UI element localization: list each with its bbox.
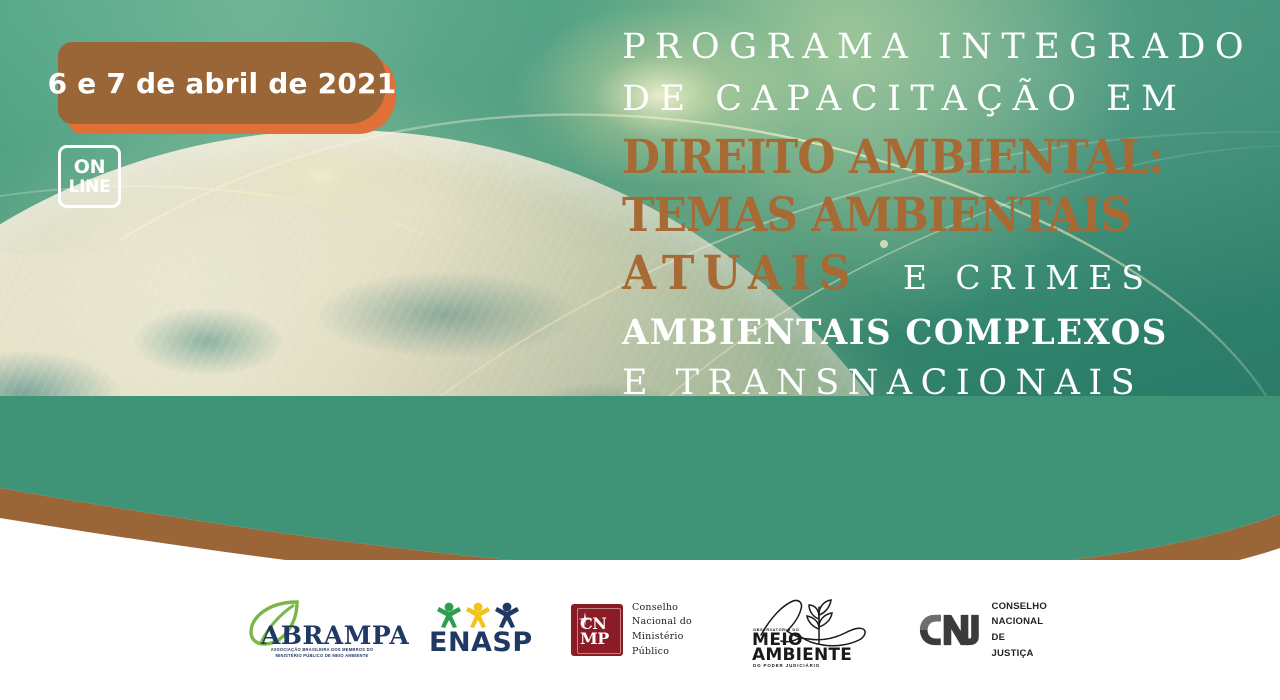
title-line-1: PROGRAMA INTEGRADO (622, 30, 1222, 65)
title-line-3: DIREITO AMBIENTAL: (622, 134, 1180, 182)
online-badge: ON LINE (58, 145, 121, 208)
poster: 6 e 7 de abril de 2021 ON LINE PROGRAMA … (0, 0, 1280, 700)
cnj-monogram-icon (919, 613, 984, 647)
online-badge-line1: ON (74, 158, 105, 177)
title-line-5-brown: ATUAIS (622, 250, 859, 298)
date-badge: 6 e 7 de abril de 2021 (58, 42, 386, 124)
cnj-text-line3: DE JUSTIÇA (992, 630, 1047, 661)
logo-abrampa: ABRAMPA ASSOCIAÇÃO BRASILEIRA DOS MEMBRO… (233, 599, 383, 661)
title-line-2: DE CAPACITAÇÃO EM (622, 82, 1222, 117)
cnmp-text: Conselho Nacional do Ministério Público (632, 601, 703, 660)
enasp-wordmark: ENASP (429, 627, 525, 658)
logo-enasp: ENASP (429, 601, 525, 659)
wave-divider (0, 396, 1280, 586)
title-line-6: AMBIENTAIS COMPLEXOS (622, 312, 1204, 353)
meio-bottom-text: DO PODER JUDICIÁRIO (753, 663, 820, 668)
cnmp-monogram-line2: MP (580, 631, 620, 646)
title-line-5-white: E CRIMES (903, 258, 1153, 297)
date-badge-fill: 6 e 7 de abril de 2021 (58, 42, 386, 124)
logo-cnmp: CN MP Conselho Nacional do Ministério Pú… (571, 604, 703, 656)
abrampa-wordmark: ABRAMPA (261, 621, 409, 650)
abrampa-subtitle: ASSOCIAÇÃO BRASILEIRA DOS MEMBROS DO MIN… (263, 647, 381, 659)
online-badge-line2: LINE (69, 179, 111, 196)
event-title: PROGRAMA INTEGRADO DE CAPACITAÇÃO EM DIR… (622, 30, 1222, 403)
cnmp-mark: CN MP (571, 604, 623, 656)
logo-meio-ambiente: OBSERVATÓRIO DO MEIO AMBIENTE DO PODER J… (749, 595, 873, 665)
date-badge-label: 6 e 7 de abril de 2021 (48, 67, 397, 100)
cnmp-text-line3: Ministério Público (632, 630, 703, 659)
logo-cnj: CONSELHO NACIONAL DE JUSTIÇA (919, 607, 1047, 653)
cnmp-text-line1: Conselho (632, 601, 703, 616)
meio-word-2: AMBIENTE (752, 647, 852, 664)
sponsor-logos-bar: ABRAMPA ASSOCIAÇÃO BRASILEIRA DOS MEMBRO… (0, 560, 1280, 700)
cnmp-text-line2: Nacional do (632, 615, 703, 630)
cnj-text: CONSELHO NACIONAL DE JUSTIÇA (992, 599, 1047, 662)
title-line-4: TEMAS AMBIENTAIS (622, 192, 1180, 240)
cnmp-monogram: CN MP (580, 616, 620, 646)
cnj-text-line1: CONSELHO (992, 599, 1047, 615)
three-people-icon (433, 601, 529, 629)
title-line-5: ATUAIS E CRIMES (622, 250, 1222, 298)
cnj-text-line2: NACIONAL (992, 614, 1047, 630)
